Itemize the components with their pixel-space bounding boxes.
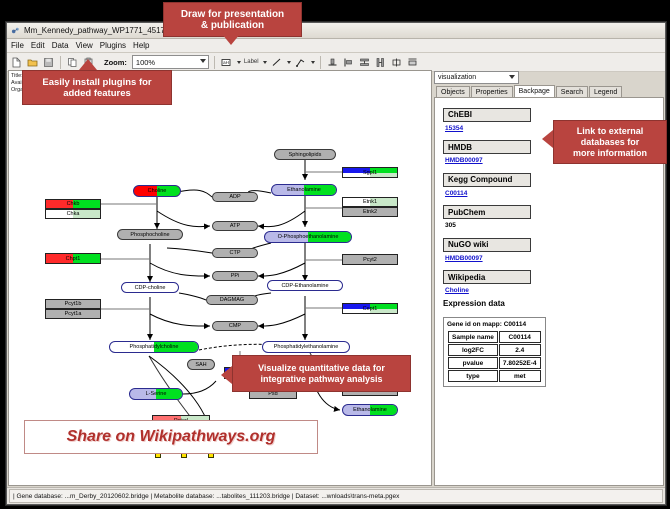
expression-data-box: Gene id on mapp: C00114 Sample name C001… [443,317,546,387]
node-label: Ethanolamine [353,407,387,413]
table-row: Sample name C00114 [448,331,541,343]
db-name-nugo: NuGO wiki [443,238,531,252]
table-cell-value: 7.80252E-4 [499,357,541,369]
node-phosphocholine[interactable]: Phosphocholine [117,229,183,240]
callout-draw-line1: Draw for presentation [181,9,284,20]
gene-etnk1[interactable]: Etnk1 [342,197,398,207]
table-row: type met [448,370,541,382]
callout-draw: Draw for presentation & publication [163,2,302,37]
node-label: ATP [230,223,240,229]
node-cdp-choline[interactable]: CDP-choline [121,282,179,293]
gene-etnk2[interactable]: Etnk2 [342,207,398,217]
distribute-vertical-icon[interactable] [358,56,371,69]
gene-label: Cept1 [363,306,378,312]
node-adp[interactable]: ADP [212,192,258,202]
title-bar: Mm_Kennedy_pathway_WP1771_45176.gpml [7,23,665,39]
new-file-icon[interactable] [10,56,23,69]
node-label: PPi [231,273,240,279]
callout-links-line1: Link to external [577,126,644,137]
gene-chka[interactable]: Chka [45,209,101,219]
distribute-horizontal-icon[interactable] [374,56,387,69]
callout-visualize-line1: Visualize quantitative data for [258,363,385,374]
node-o-phosphoethanolamine[interactable]: O-Phosphoethanolamine [264,231,352,243]
node-ctp[interactable]: CTP [212,248,258,258]
tab-legend[interactable]: Legend [589,86,622,97]
save-icon[interactable] [42,56,55,69]
node-label: CMP [229,323,241,329]
chevron-down-icon [200,59,206,63]
tab-objects[interactable]: Objects [436,86,470,97]
node-label: Sphingolipids [289,152,322,158]
gene-chpt1[interactable]: Chpt1 [45,253,101,264]
side-panel-tabs: Objects Properties Backpage Search Legen… [434,84,664,97]
db-name-kegg: Kegg Compound [443,173,531,187]
toolbar-divider-2 [214,56,215,69]
db-name-chebi: ChEBI [443,108,531,122]
screenshot-root: Mm_Kennedy_pathway_WP1771_45176.gpml Fil… [0,0,670,509]
arrow-line-icon[interactable] [294,56,307,69]
zoom-select[interactable]: 100% [132,55,209,69]
copy-icon[interactable] [66,56,79,69]
node-sphingolipids[interactable]: Sphingolipids [274,149,336,160]
visualization-row: visualization [434,70,664,84]
gene-label: Chpt1 [66,256,81,262]
node-ethanolamine[interactable]: Ethanolamine [271,184,337,196]
node-l-serine-left[interactable]: L-Serine [129,388,183,400]
svg-text:aH: aH [223,60,229,65]
node-choline-top[interactable]: Choline [133,185,181,197]
table-cell-key: Sample name [448,331,498,343]
db-link-kegg[interactable]: C00114 [445,190,663,197]
db-name-wikipedia: Wikipedia [443,270,531,284]
line-icon[interactable] [270,56,283,69]
node-label: SAH [195,362,206,368]
table-cell-key: type [448,370,498,382]
toolbar-divider [60,56,61,69]
node-label: L-Serine [146,391,167,397]
table-cell-value: C00114 [499,331,541,343]
menu-item-help[interactable]: Help [133,41,149,50]
menu-item-view[interactable]: View [76,41,93,50]
menu-item-edit[interactable]: Edit [31,41,45,50]
node-label: Phosphatidylethanolamine [274,344,339,350]
callout-visualize-line2: integrative pathway analysis [260,374,382,385]
tab-properties[interactable]: Properties [471,86,513,97]
db-value-pubchem: 305 [445,222,663,229]
chevron-down-icon-line[interactable] [287,61,291,64]
pathvisio-icon [11,26,20,35]
callout-links-line2: databases for [581,137,640,148]
visualization-value: visualization [438,74,476,81]
callout-plugins: Easily install plugins for added feature… [22,70,172,105]
status-bar: | Gene database: ...m_Derby_20120602.bri… [7,487,665,504]
db-entry-pubchem: PubChem 305 [443,202,663,230]
node-cmp[interactable]: CMP [212,321,258,331]
tab-search[interactable]: Search [556,86,588,97]
menu-item-plugins[interactable]: Plugins [100,41,126,50]
gene-label: Pcyt1a [65,311,82,317]
callout-visualize-arrow-icon [221,366,232,384]
visualization-select[interactable]: visualization [434,71,519,84]
node-label: DAGMAG [220,297,244,303]
gene-label: Etnk2 [363,209,377,215]
db-entry-wikipedia: Wikipedia Choline [443,267,663,295]
gene-label: Etnk1 [363,199,377,205]
status-text: | Gene database: ...m_Derby_20120602.bri… [9,489,663,503]
callout-links-line3: more information [573,148,647,159]
callout-plugins-line2: added features [63,88,131,99]
align-width-icon[interactable] [390,56,403,69]
gene-sgpl1[interactable]: Sgpl1 [342,167,398,178]
gene-pcyt1a[interactable]: Pcyt1a [45,309,101,319]
node-label: CDP-Ethanolamine [281,283,328,289]
gene-label: Sgpl1 [363,170,377,176]
label-tool-text: Label [244,59,259,65]
gene-label: Pcyt1b [65,301,82,307]
gene-pcyt2[interactable]: Pcyt2 [342,254,398,265]
callout-links: Link to external databases for more info… [553,120,667,164]
node-label: CTP [230,250,241,256]
callout-draw-line2: & publication [201,20,264,31]
menu-item-data[interactable]: Data [52,41,69,50]
node-label: Ethanolamine [287,187,321,193]
node-label: Phosphocholine [130,232,169,238]
datanode-icon[interactable]: aH [220,56,233,69]
gene-chkb[interactable]: Chkb [45,199,101,209]
node-cdp-ethanolamine[interactable]: CDP-Ethanolamine [267,280,343,291]
table-cell-key: pvalue [448,357,498,369]
table-cell-value: 2.4 [499,344,541,356]
node-ppi[interactable]: PPi [212,271,258,281]
zoom-value: 100% [136,58,155,67]
db-entry-nugo: NuGO wiki HMDB00097 [443,234,663,262]
expression-table: Sample name C00114 log2FC 2.4 pvalue 7.8… [447,330,542,383]
node-label: O-Phosphoethanolamine [278,234,339,240]
node-sah[interactable]: SAH [187,359,215,370]
node-label: ADP [229,194,240,200]
callout-plugins-line1: Easily install plugins for [42,77,151,88]
chevron-down-icon-datanode[interactable] [237,61,241,64]
node-label: Choline [148,188,167,194]
node-ethanolamine-bottom[interactable]: Ethanolamine [342,404,398,416]
chevron-down-icon-visualization [509,75,515,79]
open-folder-icon[interactable] [26,56,39,69]
callout-visualize: Visualize quantitative data for integrat… [232,355,411,392]
callout-plugins-arrow-icon [79,59,97,70]
node-label: CDP-choline [135,285,166,291]
db-link-wikipedia[interactable]: Choline [445,287,663,294]
node-dagmag[interactable]: DAGMAG [206,295,258,305]
gene-label: Pcyt2 [363,257,377,263]
db-entry-kegg: Kegg Compound C00114 [443,169,663,197]
gene-label: Chkb [67,201,80,207]
align-left-icon[interactable] [342,56,355,69]
gene-pcyt1b[interactable]: Pcyt1b [45,299,101,309]
chevron-down-icon-label[interactable] [263,61,267,64]
callout-share: Share on Wikipathways.org [24,420,318,454]
menu-bar: File Edit Data View Plugins Help [7,39,665,53]
callout-links-arrow-icon [542,130,553,148]
gene-label: Chka [67,211,80,217]
align-top-icon[interactable] [326,56,339,69]
table-cell-value: met [499,370,541,382]
gene-id-label: Gene id on mapp: C00114 [447,321,542,328]
table-row: pvalue 7.80252E-4 [448,357,541,369]
callout-draw-arrow-icon [222,34,240,45]
db-name-pubchem: PubChem [443,205,531,219]
db-name-hmdb: HMDB [443,140,531,154]
table-row: log2FC 2.4 [448,344,541,356]
gene-cept1[interactable]: Cept1 [342,303,398,314]
node-atp[interactable]: ATP [212,221,258,231]
align-height-icon[interactable] [406,56,419,69]
tab-backpage[interactable]: Backpage [514,85,555,97]
chevron-down-icon-arrow[interactable] [311,61,315,64]
toolbar-divider-3 [320,56,321,69]
table-cell-key: log2FC [448,344,498,356]
callout-share-text: Share on Wikipathways.org [67,428,276,446]
node-phosphatidylethanolamine[interactable]: Phosphatidylethanolamine [262,341,350,353]
expression-data-heading: Expression data [443,299,663,308]
node-label: Phosphatidylcholine [130,344,179,350]
node-phosphatidylcholine[interactable]: Phosphatidylcholine [109,341,199,353]
zoom-label: Zoom: [104,58,127,67]
menu-item-file[interactable]: File [11,41,24,50]
db-link-nugo[interactable]: HMDB00097 [445,255,663,262]
